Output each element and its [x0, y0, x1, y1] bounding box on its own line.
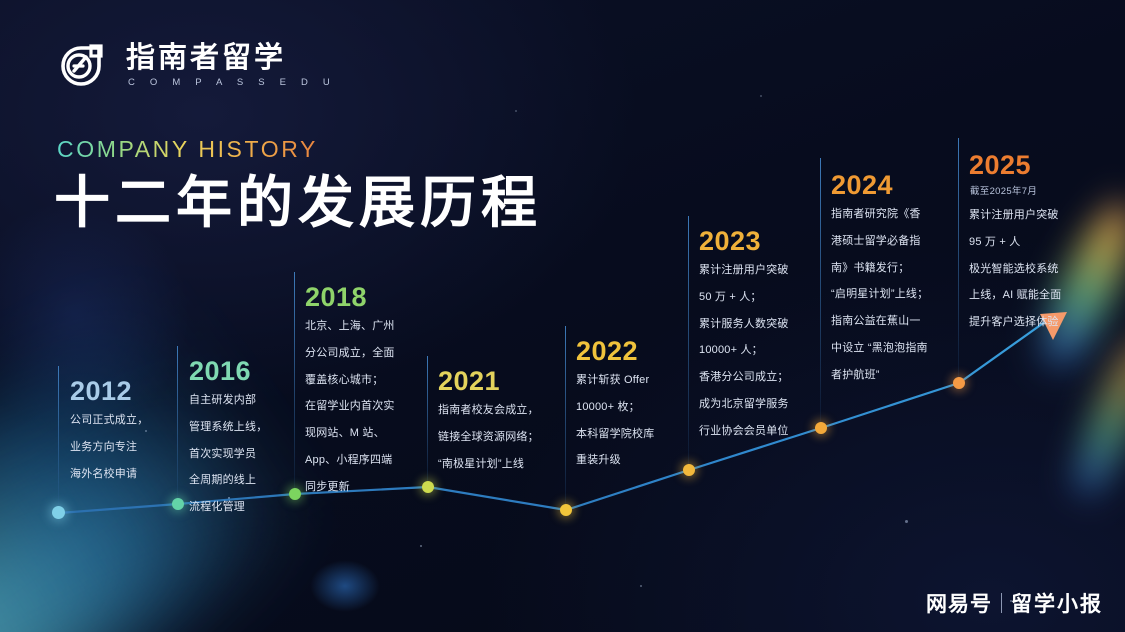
milestone-line: 95 万 + 人	[969, 234, 1095, 252]
milestone-line: 累计注册用户突破	[699, 262, 825, 280]
milestone-line: 在留学业内首次实	[305, 398, 427, 416]
milestone-line: “南极星计划”上线	[438, 456, 563, 474]
milestone-body: 累计注册用户突破 50 万 + 人； 累计服务人数突破 10000+ 人； 香港…	[699, 262, 825, 441]
timeline-node-2012[interactable]	[52, 506, 65, 519]
timeline-node-2022[interactable]	[560, 504, 572, 516]
milestone-body: 公司正式成立， 业务方向专注 海外名校申请	[70, 412, 180, 483]
milestone-year: 2022	[576, 338, 694, 365]
milestone-line: 链接全球资源网络；	[438, 429, 563, 447]
milestone-line: 公司正式成立，	[70, 412, 180, 430]
milestone-2012[interactable]: 2012 公司正式成立， 业务方向专注 海外名校申请	[70, 378, 180, 483]
milestone-line: 现网站、M 站、	[305, 425, 427, 443]
milestone-line: 行业协会会员单位	[699, 423, 825, 441]
milestone-2021[interactable]: 2021 指南者校友会成立， 链接全球资源网络； “南极星计划”上线	[438, 368, 563, 473]
milestone-line: 首次实现学员	[189, 446, 299, 464]
milestone-2025[interactable]: 2025 截至2025年7月 累计注册用户突破 95 万 + 人 极光智能选校系…	[969, 152, 1095, 332]
milestone-line: 港硕士留学必备指	[831, 233, 955, 251]
milestone-line: 指南公益在蕉山一	[831, 313, 955, 331]
milestone-line: 同步更新	[305, 479, 427, 497]
timeline-chart: 2012 公司正式成立， 业务方向专注 海外名校申请 2016 自主研发内部 管…	[0, 0, 1125, 632]
watermark-brand: 网易号	[926, 588, 992, 618]
watermark-separator-icon	[1001, 593, 1002, 613]
milestone-body: 累计斩获 Offer 10000+ 枚； 本科留学院校库 重装升级	[576, 372, 694, 470]
milestone-year: 2025	[969, 152, 1095, 179]
milestone-line: 重装升级	[576, 452, 694, 470]
milestone-line: 中设立 “黑泡泡指南	[831, 340, 955, 358]
milestone-year: 2024	[831, 172, 955, 199]
milestone-2018[interactable]: 2018 北京、上海、广州 分公司成立，全面 覆盖核心城市； 在留学业内首次实 …	[305, 284, 427, 497]
milestone-2016[interactable]: 2016 自主研发内部 管理系统上线， 首次实现学员 全周期的线上 流程化管理	[189, 358, 299, 517]
milestone-line: 极光智能选校系统	[969, 261, 1095, 279]
milestone-line: 累计注册用户突破	[969, 207, 1095, 225]
milestone-line: 海外名校申请	[70, 466, 180, 484]
watermark-account-name: 留学小报	[1011, 588, 1103, 618]
timeline-divider	[427, 356, 428, 487]
milestone-line: 南》书籍发行；	[831, 260, 955, 278]
milestone-body: 累计注册用户突破 95 万 + 人 极光智能选校系统 上线，AI 赋能全面 提升…	[969, 207, 1095, 332]
milestone-year: 2012	[70, 378, 180, 405]
milestone-line: 50 万 + 人；	[699, 289, 825, 307]
milestone-subtitle: 截至2025年7月	[970, 183, 1095, 197]
milestone-line: “启明星计划”上线；	[831, 286, 955, 304]
milestone-2022[interactable]: 2022 累计斩获 Offer 10000+ 枚； 本科留学院校库 重装升级	[576, 338, 694, 470]
milestone-year: 2023	[699, 228, 825, 255]
milestone-line: 累计服务人数突破	[699, 316, 825, 334]
milestone-line: 指南者校友会成立，	[438, 402, 563, 420]
milestone-line: 覆盖核心城市；	[305, 372, 427, 390]
slide-canvas: 指南者留学 C O M P A S S E D U COMPANY HISTOR…	[0, 0, 1125, 632]
milestone-line: 管理系统上线，	[189, 419, 299, 437]
milestone-line: 10000+ 人；	[699, 342, 825, 360]
milestone-2023[interactable]: 2023 累计注册用户突破 50 万 + 人； 累计服务人数突破 10000+ …	[699, 228, 825, 441]
milestone-body: 指南者校友会成立， 链接全球资源网络； “南极星计划”上线	[438, 402, 563, 473]
milestone-line: 上线，AI 赋能全面	[969, 287, 1095, 305]
milestone-line: 全周期的线上	[189, 472, 299, 490]
milestone-line: 业务方向专注	[70, 439, 180, 457]
milestone-line: 累计斩获 Offer	[576, 372, 694, 390]
watermark: 网易号 留学小报	[926, 588, 1103, 618]
milestone-line: 指南者研究院《香	[831, 206, 955, 224]
milestone-2024[interactable]: 2024 指南者研究院《香 港硕士留学必备指 南》书籍发行； “启明星计划”上线…	[831, 172, 955, 385]
milestone-line: 提升客户选择体验	[969, 314, 1095, 332]
timeline-divider	[565, 326, 566, 510]
milestone-line: 分公司成立，全面	[305, 345, 427, 363]
milestone-line: 本科留学院校库	[576, 426, 694, 444]
milestone-body: 北京、上海、广州 分公司成立，全面 覆盖核心城市； 在留学业内首次实 现网站、M…	[305, 318, 427, 497]
milestone-line: 北京、上海、广州	[305, 318, 427, 336]
milestone-line: App、小程序四端	[305, 452, 427, 470]
timeline-polyline	[0, 0, 1125, 632]
timeline-divider	[958, 138, 959, 383]
milestone-line: 自主研发内部	[189, 392, 299, 410]
milestone-line: 10000+ 枚；	[576, 399, 694, 417]
milestone-year: 2018	[305, 284, 427, 311]
milestone-body: 自主研发内部 管理系统上线， 首次实现学员 全周期的线上 流程化管理	[189, 392, 299, 517]
milestone-line: 者护航班”	[831, 367, 955, 385]
milestone-year: 2016	[189, 358, 299, 385]
milestone-body: 指南者研究院《香 港硕士留学必备指 南》书籍发行； “启明星计划”上线； 指南公…	[831, 206, 955, 385]
milestone-line: 流程化管理	[189, 499, 299, 517]
timeline-divider	[58, 366, 59, 513]
milestone-year: 2021	[438, 368, 563, 395]
milestone-line: 香港分公司成立；	[699, 369, 825, 387]
milestone-line: 成为北京留学服务	[699, 396, 825, 414]
timeline-node-2016[interactable]	[172, 498, 184, 510]
